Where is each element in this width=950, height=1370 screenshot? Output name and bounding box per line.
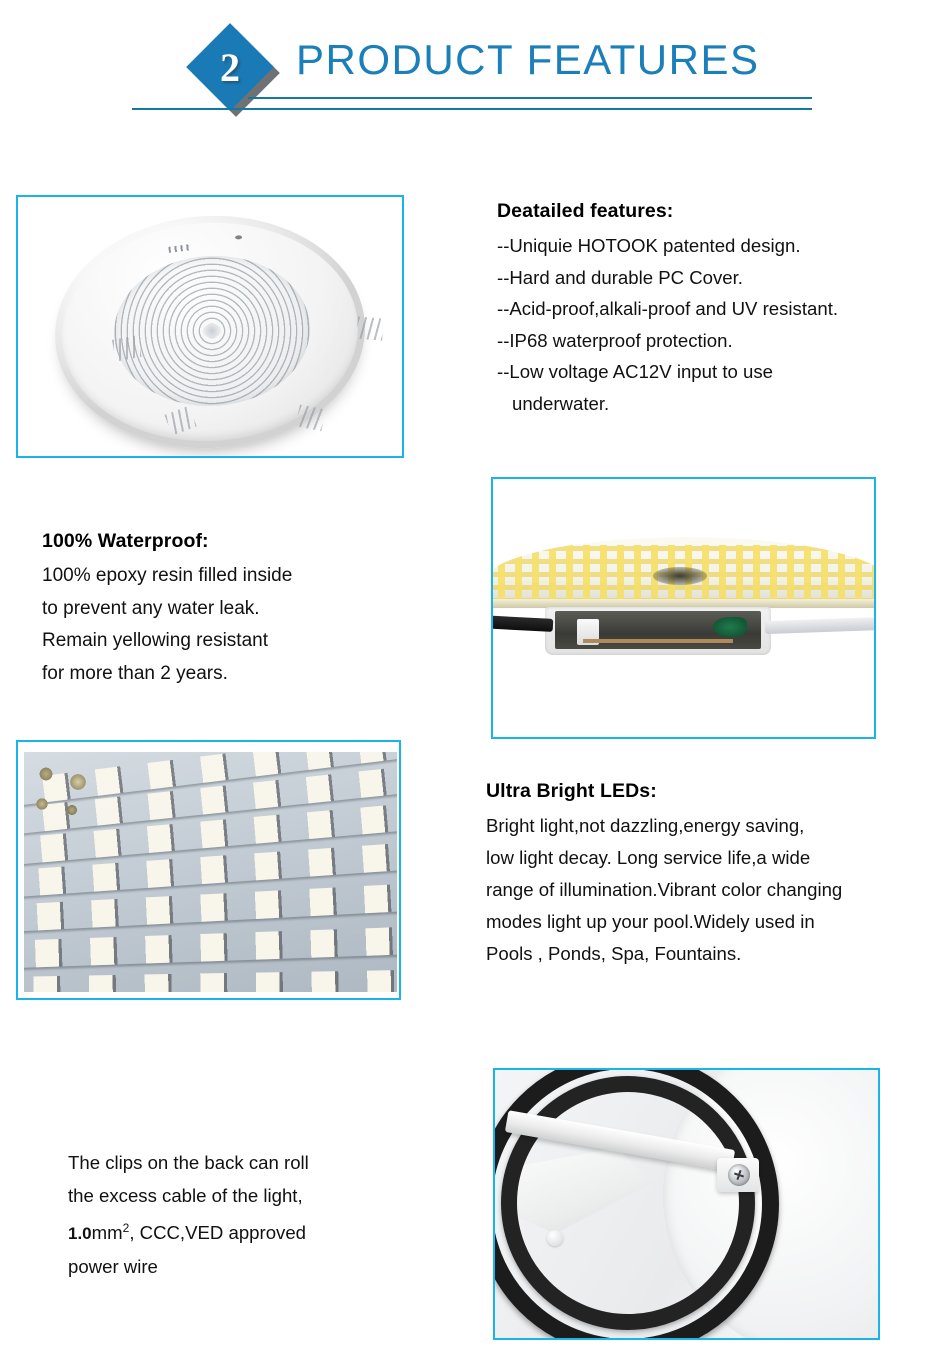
feature-line: --Acid-proof,alkali-proof and UV resista…	[497, 293, 947, 325]
ultra-bright-leds-block: Ultra Bright LEDs: Bright light,not dazz…	[486, 780, 946, 970]
cross-section-black-cable	[493, 615, 553, 632]
product-photo-lamp	[16, 195, 404, 458]
cross-section-pcb-bar	[583, 639, 733, 643]
cross-section-stage	[493, 479, 874, 737]
waterproof-line: Remain yellowing resistant	[42, 625, 422, 658]
led-board-stage	[18, 742, 399, 998]
lamp-fin-bottom-right-icon	[296, 404, 326, 431]
badge-number-label: 2	[196, 34, 264, 102]
feature-line: --IP68 waterproof protection.	[497, 325, 947, 357]
leds-line: low light decay. Long service life,a wid…	[486, 842, 946, 874]
feature-line: --Uniquie HOTOOK patented design.	[497, 230, 947, 262]
detailed-features-heading: Deatailed features:	[497, 200, 947, 223]
cross-section-center-cluster	[653, 567, 707, 585]
feature-line: --Low voltage AC12V input to use	[497, 356, 947, 388]
leds-line: Pools , Ponds, Spa, Fountains.	[486, 938, 946, 970]
clips-spec-rest: , CCC,VED approved	[129, 1222, 306, 1243]
page-title: PRODUCT FEATURES	[296, 36, 759, 84]
cable-clips-block: The clips on the back can roll the exces…	[68, 1146, 428, 1283]
led-board-solder-pads	[28, 760, 106, 822]
clips-line: power wire	[68, 1250, 428, 1283]
waterproof-line: to prevent any water leak.	[42, 593, 422, 626]
waterproof-line: 100% epoxy resin filled inside	[42, 560, 422, 593]
page-header: 2 PRODUCT FEATURES	[0, 0, 950, 170]
cable-clip-nub	[547, 1230, 563, 1246]
lamp-outer-body	[49, 208, 371, 456]
product-photo-cross-section	[491, 477, 876, 739]
coiled-cable-inner	[501, 1076, 755, 1330]
cross-section-led-panel	[493, 537, 874, 605]
header-rule-top	[248, 97, 812, 99]
clips-line: the excess cable of the light,	[68, 1179, 428, 1212]
detailed-features-block: Deatailed features: --Uniquie HOTOOK pat…	[497, 200, 947, 419]
lamp-fin-right-icon	[356, 316, 384, 340]
waterproof-block: 100% Waterproof: 100% epoxy resin filled…	[42, 530, 422, 690]
waterproof-line: for more than 2 years.	[42, 658, 422, 691]
feature-line: --Hard and durable PC Cover.	[497, 262, 947, 294]
product-photo-cable-clip	[493, 1068, 880, 1340]
cross-section-white-cable	[765, 617, 874, 634]
clips-spec-line: 1.0mm2, CCC,VED approved	[68, 1212, 428, 1250]
lamp-top-dot	[235, 235, 242, 239]
lamp-fin-left-icon	[112, 335, 142, 362]
feature-line: underwater.	[497, 388, 947, 420]
leds-line: Bright light,not dazzling,energy saving,	[486, 810, 946, 842]
cross-section-green-component	[713, 617, 747, 637]
clips-spec-unit: mm	[92, 1222, 123, 1243]
led-row	[24, 925, 397, 970]
leds-line: range of illumination.Vibrant color chan…	[486, 874, 946, 906]
led-row	[24, 969, 397, 992]
ultra-bright-leds-heading: Ultra Bright LEDs:	[486, 780, 946, 803]
lamp-photo-stage	[18, 197, 402, 456]
product-photo-led-board	[16, 740, 401, 1000]
cross-section-internal-cavity	[555, 611, 761, 649]
header-rule-bottom	[132, 108, 812, 110]
clips-line: The clips on the back can roll	[68, 1146, 428, 1179]
waterproof-heading: 100% Waterproof:	[42, 530, 422, 553]
led-board-substrate	[24, 752, 397, 992]
cable-clip-stage	[495, 1070, 878, 1338]
clips-spec-value: 1.0	[68, 1224, 92, 1243]
lamp-lens-center	[203, 323, 222, 338]
leds-line: modes light up your pool.Widely used in	[486, 906, 946, 938]
